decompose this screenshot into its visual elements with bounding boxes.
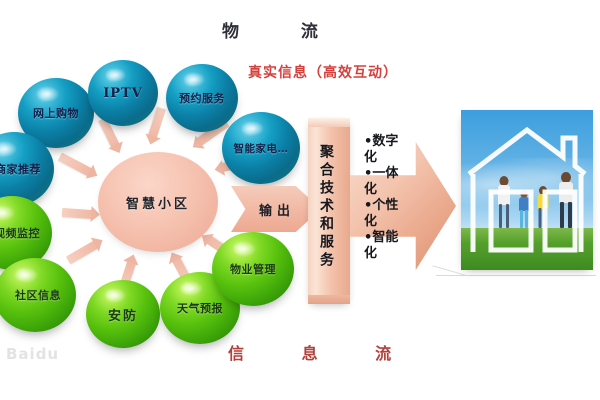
node-label: 天气预报 <box>177 300 223 316</box>
node-label: IPTV <box>103 86 143 101</box>
smart-home-photo <box>461 110 593 270</box>
diagram-canvas: 物 流 信 息 流 真实信息（高效互动） 网上购物 IPTV 预约服务 智能家电… <box>0 0 600 400</box>
node-appointment-service[interactable]: 预约服务 <box>166 64 238 132</box>
node-iptv[interactable]: IPTV <box>88 60 158 126</box>
house-outline-icon <box>467 122 587 254</box>
feature-item-digital: •数字化 <box>364 134 410 166</box>
node-label: 预约服务 <box>179 90 225 106</box>
node-community-info[interactable]: 社区信息 <box>0 258 76 332</box>
aggregation-tech-service-bar: 聚合技术和服务 <box>308 118 350 304</box>
node-label: 网上购物 <box>33 105 79 121</box>
real-info-annotation: 真实信息（高效互动） <box>248 62 398 82</box>
connector-arrow <box>66 241 98 265</box>
information-flow-label: 信 息 流 <box>228 340 417 364</box>
baidu-watermark: Baidu <box>6 345 59 363</box>
node-label: 智能家电… <box>234 141 289 156</box>
aggregation-bar-label: 聚合技术和服务 <box>322 144 336 270</box>
node-label: 商家推荐 <box>0 161 41 177</box>
node-smart-appliances[interactable]: 智能家电… <box>222 112 300 184</box>
connector-arrow <box>58 153 92 177</box>
feature-item-integrated: •一体化 <box>364 166 410 198</box>
hub-label: 智慧小区 <box>126 193 190 212</box>
node-property-management[interactable]: 物业管理 <box>212 232 294 306</box>
guide-line <box>436 275 596 276</box>
node-label: 视频监控 <box>0 225 40 241</box>
smart-community-hub[interactable]: 智慧小区 <box>98 152 218 252</box>
logistics-flow-label: 物 流 <box>222 17 346 42</box>
output-arrow-label: 输出 <box>259 200 295 219</box>
node-label: 社区信息 <box>15 287 61 303</box>
connector-arrow <box>62 208 93 219</box>
node-label: 物业管理 <box>230 261 276 277</box>
feature-item-intelligent: •智能化 <box>364 230 410 262</box>
feature-item-personalized: •个性化 <box>364 198 410 230</box>
node-label: 安防 <box>108 305 138 324</box>
node-security[interactable]: 安防 <box>86 280 160 348</box>
feature-bullet-list: •数字化 •一体化 •个性化 •智能化 <box>364 134 410 262</box>
